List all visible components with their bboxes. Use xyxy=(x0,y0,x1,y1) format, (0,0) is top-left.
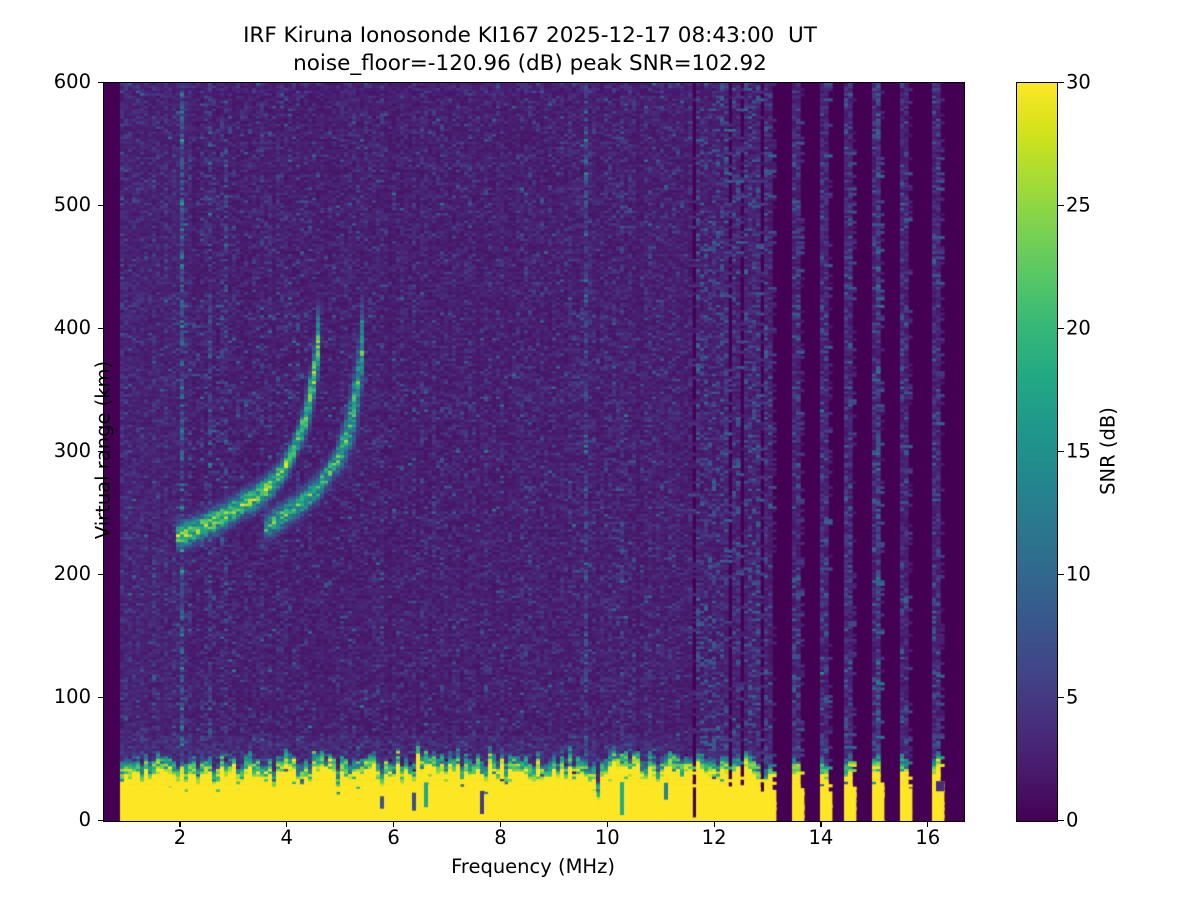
colorbar-tick-mark xyxy=(1058,820,1064,821)
colorbar-tick-label: 0 xyxy=(1066,809,1078,832)
colorbar-tick-mark xyxy=(1058,328,1064,329)
x-tick-label: 16 xyxy=(915,826,940,849)
figure-title: IRF Kiruna Ionosonde KI167 2025-12-17 08… xyxy=(0,22,1060,78)
y-tick-mark xyxy=(98,328,104,329)
y-tick-label: 500 xyxy=(0,193,91,216)
x-tick-label: 6 xyxy=(387,826,399,849)
y-tick-label: 600 xyxy=(0,70,91,93)
colorbar-tick-mark xyxy=(1058,82,1064,83)
colorbar-label: SNR (dB) xyxy=(1097,407,1120,495)
y-tick-mark xyxy=(98,82,104,83)
y-tick-mark xyxy=(98,574,104,575)
colorbar-tick-mark xyxy=(1058,574,1064,575)
x-tick-label: 8 xyxy=(494,826,506,849)
y-tick-label: 400 xyxy=(0,316,91,339)
y-tick-mark xyxy=(98,697,104,698)
title-line-1: IRF Kiruna Ionosonde KI167 2025-12-17 08… xyxy=(0,22,1060,50)
y-tick-label: 100 xyxy=(0,685,91,708)
colorbar-tick-label: 30 xyxy=(1066,71,1091,94)
y-tick-label: 0 xyxy=(0,808,91,831)
x-tick-label: 12 xyxy=(702,826,727,849)
y-tick-mark xyxy=(98,205,104,206)
y-tick-mark xyxy=(98,820,104,821)
colorbar-tick-mark xyxy=(1058,205,1064,206)
colorbar-gradient xyxy=(1017,83,1057,821)
ionogram-heatmap xyxy=(104,83,964,821)
title-line-2: noise_floor=-120.96 (dB) peak SNR=102.92 xyxy=(0,50,1060,78)
colorbar-tick-label: 5 xyxy=(1066,686,1078,709)
colorbar-tick-label: 15 xyxy=(1066,440,1091,463)
colorbar-tick-mark xyxy=(1058,451,1064,452)
figure-root: IRF Kiruna Ionosonde KI167 2025-12-17 08… xyxy=(0,0,1200,900)
colorbar-tick-label: 10 xyxy=(1066,563,1091,586)
y-tick-label: 300 xyxy=(0,439,91,462)
colorbar-tick-label: 25 xyxy=(1066,194,1091,217)
x-tick-label: 10 xyxy=(595,826,620,849)
x-axis-label: Frequency (MHz) xyxy=(103,855,963,878)
x-tick-label: 2 xyxy=(174,826,186,849)
y-tick-label: 200 xyxy=(0,562,91,585)
y-axis-label: Virtual range (km) xyxy=(92,361,115,539)
colorbar xyxy=(1016,82,1058,822)
ionogram-axes xyxy=(103,82,965,822)
x-tick-label: 14 xyxy=(808,826,833,849)
colorbar-tick-mark xyxy=(1058,697,1064,698)
x-tick-label: 4 xyxy=(281,826,293,849)
colorbar-tick-label: 20 xyxy=(1066,317,1091,340)
